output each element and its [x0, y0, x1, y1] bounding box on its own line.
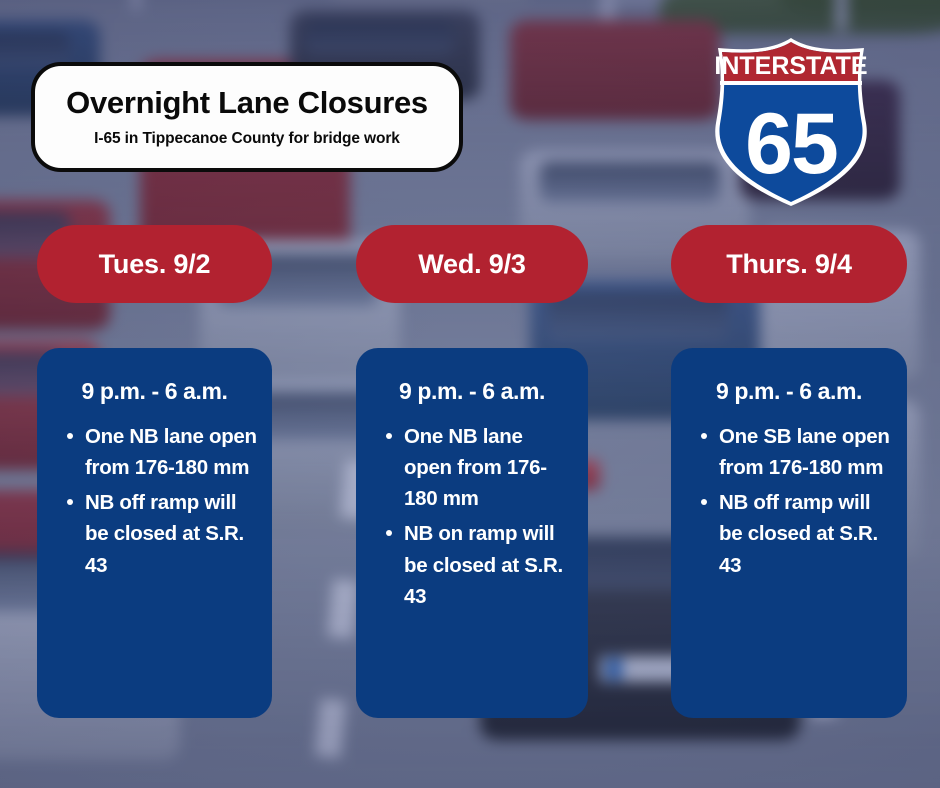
day-header-pill: Wed. 9/3	[356, 225, 588, 303]
title-card: Overnight Lane Closures I-65 in Tippecan…	[31, 62, 463, 172]
closure-bullet-list: One NB lane open from 176-180 mm NB off …	[51, 421, 258, 581]
list-item-text: NB off ramp will be closed at S.R. 43	[85, 491, 244, 576]
card-time-range: 9 p.m. - 6 a.m.	[51, 378, 258, 405]
closure-bullet-list: One SB lane open from 176-180 mm NB off …	[685, 421, 893, 581]
shield-banner-text: INTERSTATE	[714, 52, 867, 80]
list-item: NB off ramp will be closed at S.R. 43	[51, 487, 258, 580]
closure-info-card: 9 p.m. - 6 a.m. One NB lane open from 17…	[37, 348, 272, 718]
interstate-shield-icon: INTERSTATE 65	[712, 38, 870, 206]
list-item-text: NB on ramp will be closed at S.R. 43	[404, 522, 563, 607]
closure-info-card: 9 p.m. - 6 a.m. One NB lane open from 17…	[356, 348, 588, 718]
bullet-dot	[701, 433, 707, 439]
day-header-pill: Thurs. 9/4	[671, 225, 907, 303]
page-subtitle: I-65 in Tippecanoe County for bridge wor…	[94, 130, 400, 148]
page-title: Overnight Lane Closures	[66, 86, 428, 120]
bullet-dot	[701, 499, 707, 505]
list-item-text: NB off ramp will be closed at S.R. 43	[719, 491, 878, 576]
card-time-range: 9 p.m. - 6 a.m.	[685, 378, 893, 405]
list-item-text: One SB lane open from 176-180 mm	[719, 425, 890, 479]
closure-bullet-list: One NB lane open from 176-180 mm NB on r…	[370, 421, 574, 612]
closure-info-card: 9 p.m. - 6 a.m. One SB lane open from 17…	[671, 348, 907, 718]
list-item-text: One NB lane open from 176-180 mm	[85, 425, 257, 479]
shield-route-number: 65	[745, 96, 837, 192]
list-item: NB on ramp will be closed at S.R. 43	[370, 518, 574, 611]
list-item: One NB lane open from 176-180 mm	[370, 421, 574, 514]
list-item: NB off ramp will be closed at S.R. 43	[685, 487, 893, 580]
day-header-pill: Tues. 9/2	[37, 225, 272, 303]
bullet-dot	[67, 499, 73, 505]
list-item: One SB lane open from 176-180 mm	[685, 421, 893, 483]
card-time-range: 9 p.m. - 6 a.m.	[370, 378, 574, 405]
bullet-dot	[67, 433, 73, 439]
bullet-dot	[386, 530, 392, 536]
list-item-text: One NB lane open from 176-180 mm	[404, 425, 547, 510]
list-item: One NB lane open from 176-180 mm	[51, 421, 258, 483]
traffic-advisory-poster: Overnight Lane Closures I-65 in Tippecan…	[0, 0, 940, 788]
bullet-dot	[386, 433, 392, 439]
